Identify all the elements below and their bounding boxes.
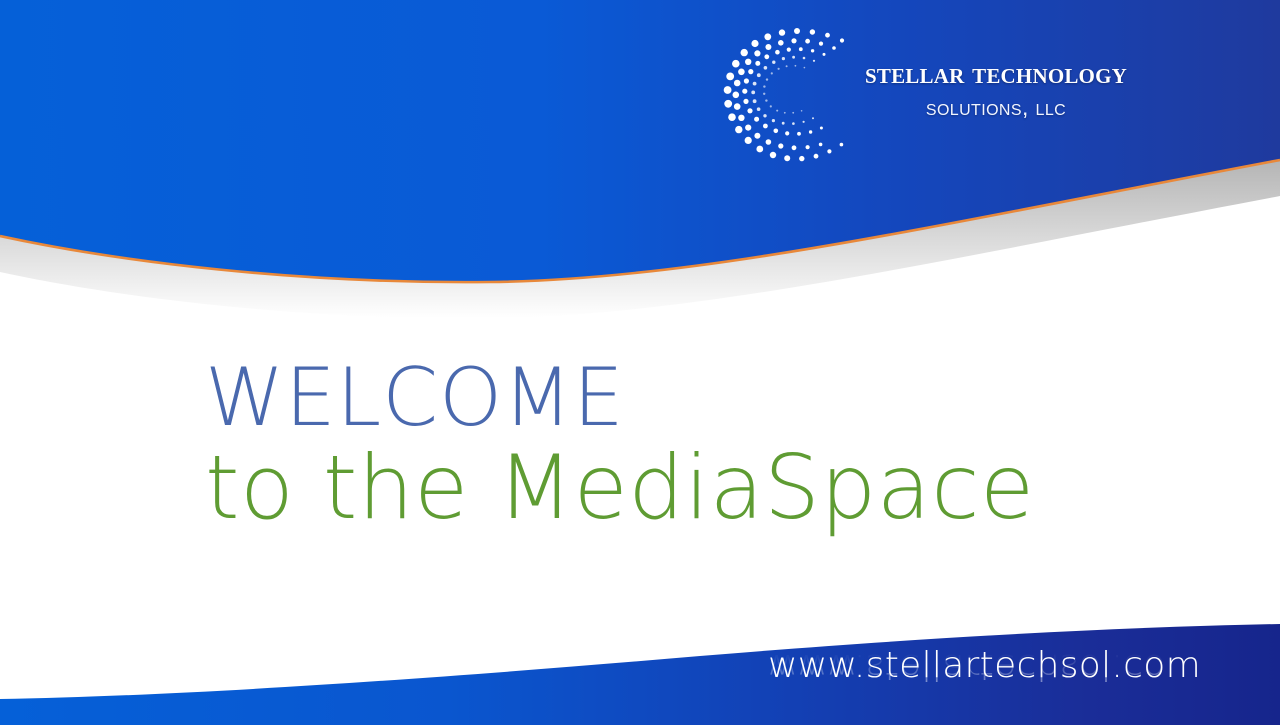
headline-welcome: WELCOME: [205, 352, 1105, 444]
website-url-reflection: www.stellartechsol.com: [768, 645, 1168, 687]
stellar-swirl-icon: [718, 22, 858, 172]
company-logo: Stellar Technology Solutions, LLC: [718, 22, 1148, 172]
logo-company-suffix: Solutions, LLC: [846, 92, 1146, 122]
logo-company-name: Stellar Technology: [846, 58, 1146, 90]
logo-wordmark: Stellar Technology Solutions, LLC: [846, 58, 1146, 122]
slide-headline: WELCOME to the MediaSpace: [205, 352, 1105, 536]
website-url-block: www.stellartechsol.com www.stellartechso…: [768, 645, 1168, 725]
title-slide: Stellar Technology Solutions, LLC WELCOM…: [0, 0, 1280, 725]
headline-subject: to the MediaSpace: [205, 440, 1105, 536]
